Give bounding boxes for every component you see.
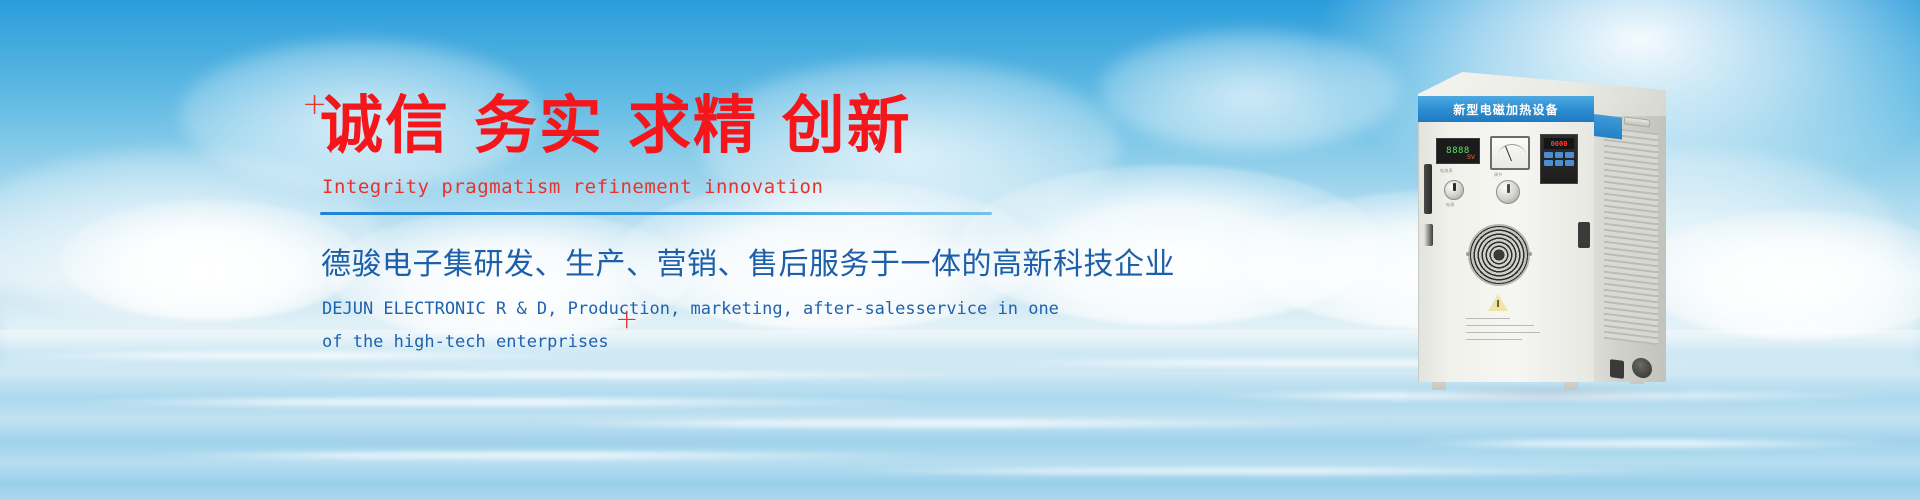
machine-side-port <box>1610 359 1624 379</box>
knob-caption-2: 调节 <box>1494 172 1503 178</box>
water-streak <box>240 372 1020 378</box>
machine-knob-power <box>1444 180 1464 200</box>
promo-banner: + + 诚信 务实 求精 创新 Integrity pragmatism ref… <box>0 0 1920 500</box>
gauge-arc <box>1498 144 1526 156</box>
machine-front-latch <box>1424 224 1433 246</box>
gauge-caption: 电流表 <box>1440 168 1453 174</box>
water-streak <box>820 468 1720 474</box>
banner-headline: 诚信 务实 求精 创新 <box>320 92 1018 160</box>
machine-brand-label: 新型电磁加热设备 <box>1453 101 1559 118</box>
water-streak <box>60 398 960 406</box>
cloud-decor <box>1100 30 1400 150</box>
keypad-button <box>1555 160 1564 166</box>
keypad-button <box>1565 152 1574 158</box>
spec-line <box>1466 339 1522 340</box>
spec-line <box>1466 318 1510 319</box>
keypad-button <box>1544 152 1553 158</box>
spec-line <box>1466 325 1534 326</box>
keypad-buttons <box>1544 152 1574 166</box>
led-display-value: 0000 <box>1551 140 1568 148</box>
fan-screw <box>1466 252 1470 256</box>
keypad-button <box>1544 160 1553 166</box>
machine-shadow <box>1408 386 1688 402</box>
machine-spec-label <box>1466 318 1544 350</box>
machine-fan-grille <box>1468 224 1530 286</box>
banner-text-block: 诚信 务实 求精 创新 Integrity pragmatism refinem… <box>318 92 1018 359</box>
banner-subtitle-en: DEJUN ELECTRONIC R & D, Production, mark… <box>322 293 1018 359</box>
machine-knob-adjust <box>1496 180 1520 204</box>
keypad-button <box>1555 152 1564 158</box>
machine-digital-display: 8888 SV <box>1436 138 1480 164</box>
subtitle-en-line-2: of the high-tech enterprises <box>322 326 1018 359</box>
knob-caption-1: 电源 <box>1446 202 1455 208</box>
banner-subtitle-cn: 德骏电子集研发、生产、营销、售后服务于一体的高新科技企业 <box>321 239 1018 283</box>
machine-control-keypad: 0000 <box>1540 134 1578 184</box>
machine-vent-slats <box>1604 127 1658 346</box>
machine-analog-gauge <box>1490 136 1530 170</box>
water-streak <box>140 452 960 459</box>
subtitle-en-line-1: DEJUN ELECTRONIC R & D, Production, mark… <box>322 293 1018 326</box>
machine-door-clip <box>1578 222 1590 248</box>
digital-display-sub: SV <box>1467 155 1475 161</box>
keypad-led-display: 0000 <box>1544 138 1574 149</box>
keypad-button <box>1565 160 1574 166</box>
banner-divider <box>320 212 992 215</box>
product-image-heating-machine: 新型电磁加热设备 8888 SV 0000 电流表 调节 电源 <box>1418 72 1718 402</box>
fan-screw <box>1528 252 1532 256</box>
machine-front-handle <box>1424 164 1432 214</box>
water-streak <box>1400 440 1920 447</box>
banner-tagline-en: Integrity pragmatism refinement innovati… <box>322 176 1018 198</box>
warning-triangle-icon <box>1488 294 1508 311</box>
water-streak <box>520 420 1400 427</box>
spec-line <box>1466 332 1540 333</box>
machine-band-side <box>1594 114 1622 139</box>
machine-brand-band: 新型电磁加热设备 <box>1418 96 1594 122</box>
